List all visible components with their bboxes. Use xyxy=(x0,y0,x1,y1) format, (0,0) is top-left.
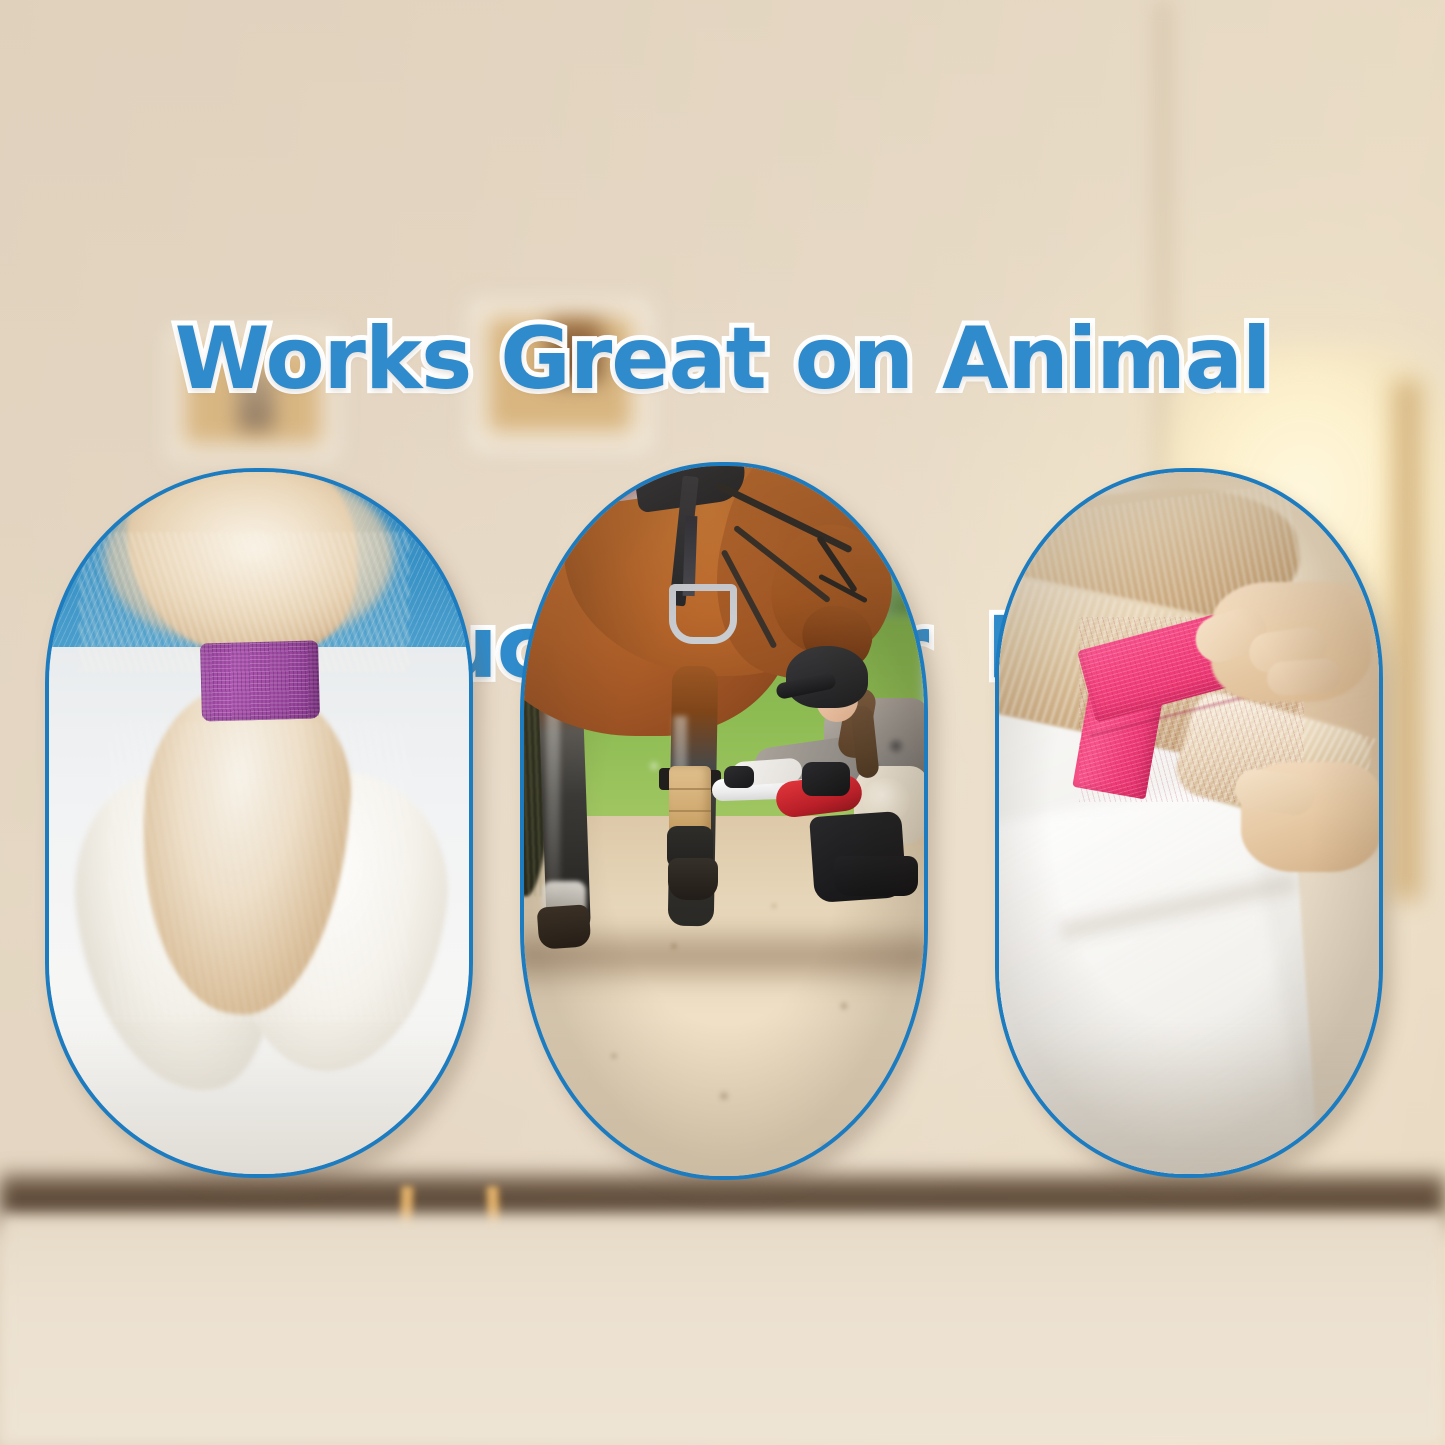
photo-dog-leg-pink-wrap xyxy=(999,472,1379,1174)
panel-dog-leg-pink-wrap xyxy=(995,468,1383,1178)
product-feature-image: Works Great on Animal Reduces Their Pain xyxy=(0,0,1445,1445)
purple-bandage-weave-texture xyxy=(200,640,320,721)
photo-cat-paw-purple-wrap xyxy=(49,472,469,1174)
panel-inner-shadow xyxy=(49,1032,469,1174)
fur-texture-lower xyxy=(109,722,409,1022)
photo-horse-leg-tan-wrap xyxy=(524,466,924,1176)
headline-line-1: Works Great on Animal xyxy=(0,311,1445,407)
panel-vignette xyxy=(999,472,1379,1174)
panel-vignette xyxy=(524,466,924,1176)
panel-horse-leg-tan-wrap xyxy=(520,462,928,1180)
panel-cat-paw-purple-wrap xyxy=(45,468,473,1178)
